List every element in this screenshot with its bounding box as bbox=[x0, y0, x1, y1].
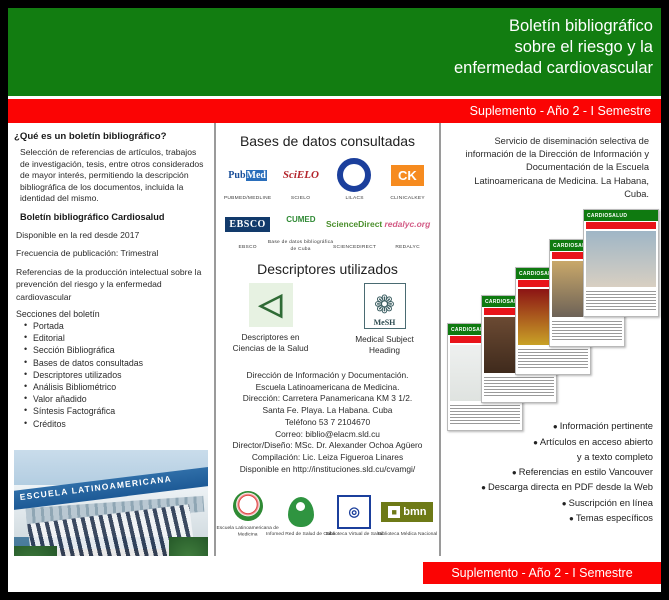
list-item: Síntesis Factográfica bbox=[24, 405, 208, 417]
bullet-icon: ● bbox=[481, 483, 486, 492]
cover-text-lines bbox=[552, 319, 622, 341]
database-item: CK CLINICALKEY bbox=[381, 157, 434, 200]
databases-row-2: EBSCO EBSCO CUMED Base de datos bibliogr… bbox=[221, 201, 434, 249]
bmn-logo-icon: ■bmn bbox=[381, 495, 434, 529]
lilacs-ring-shape bbox=[337, 158, 371, 192]
list-item: Descriptores utilizados bbox=[24, 369, 208, 381]
mesh-wordmark: MeSH bbox=[374, 318, 396, 327]
benefit-label: Referencias en estilo Vancouver bbox=[519, 466, 653, 477]
list-item: Créditos bbox=[24, 418, 208, 430]
partner-logo-item: ◎ Biblioteca Virtual de Salud bbox=[328, 495, 381, 536]
partner-logo-item: Escuela Latinoamericana de Medicina bbox=[221, 489, 274, 535]
bullet-icon: ● bbox=[512, 468, 517, 477]
partner-logos-row: Escuela Latinoamericana de Medicina Info… bbox=[221, 489, 434, 535]
contact-line: Dirección de Información y Documentación… bbox=[221, 370, 434, 382]
page-title: Boletín bibliográfico sobre el riesgo y … bbox=[454, 16, 653, 79]
contact-line: Compilación: Lic. Leiza Figueroa Linares bbox=[221, 452, 434, 464]
service-description: Servicio de diseminación selectiva de in… bbox=[445, 129, 655, 201]
elam-logo-icon bbox=[221, 489, 274, 523]
contact-url[interactable]: Disponible en http://instituciones.sld.c… bbox=[221, 464, 434, 476]
lilacs-icon bbox=[328, 157, 381, 193]
bullet-icon: ● bbox=[553, 422, 558, 431]
cumed-mark: CUMED bbox=[286, 215, 315, 224]
benefit-label: Artículos en acceso abierto bbox=[540, 436, 653, 447]
infomed-logo-icon bbox=[274, 495, 327, 529]
database-item: SciELO SCIELO bbox=[274, 157, 327, 200]
list-item: Bases de datos consultadas bbox=[24, 357, 208, 369]
cover-text-lines bbox=[450, 403, 520, 425]
scielo-mark: SciELO bbox=[283, 169, 319, 181]
list-item: ●Referencias en estilo Vancouver bbox=[445, 465, 653, 481]
mesh-tree-glyph: ❁ bbox=[374, 293, 395, 318]
references-text: Referencias de la producción intelectual… bbox=[16, 266, 208, 303]
descriptor-caption: Descriptores en Ciencias de la Salud bbox=[225, 332, 317, 354]
contact-email[interactable]: Correo: biblio@elacm.sld.cu bbox=[221, 429, 434, 441]
list-item: y a texto completo bbox=[445, 450, 653, 465]
list-item: Portada bbox=[24, 320, 208, 332]
cover-masthead: CARDIOSALUD bbox=[584, 210, 658, 221]
left-column: ¿Qué es un boletín bibliográfico? Selecc… bbox=[8, 123, 214, 592]
benefits-list: ●Información pertinente ●Artículos en ac… bbox=[445, 419, 653, 527]
contact-line: Director/Diseño: MSc. Dr. Alexander Ocho… bbox=[221, 440, 434, 452]
clinicalkey-icon: CK bbox=[381, 157, 434, 193]
database-caption: REDALYC bbox=[371, 244, 443, 251]
cover-text-lines bbox=[484, 375, 554, 397]
descriptor-caption-line-1: Descriptores en bbox=[225, 332, 317, 343]
sections-list: Portada Editorial Sección Bibliográfica … bbox=[24, 320, 208, 430]
list-item: Sección Bibliográfica bbox=[24, 344, 208, 356]
bvs-logo-icon: ◎ bbox=[328, 495, 381, 529]
partner-logo-caption: Biblioteca Médica Nacional bbox=[373, 531, 442, 538]
footer-supplement-label: Suplemento - Año 2 - I Semestre bbox=[423, 562, 661, 584]
ebsco-mark: EBSCO bbox=[225, 217, 269, 232]
clinicalkey-mark: CK bbox=[391, 165, 424, 186]
descriptor-item: ◁ Descriptores en Ciencias de la Salud bbox=[225, 283, 317, 356]
sciencedirect-icon: ScienceDirect bbox=[328, 206, 381, 242]
sciencedirect-mark-b: Direct bbox=[358, 219, 382, 229]
databases-row-1: PubMed PUBMED/MEDLINE SciELO SCIELO LILA… bbox=[221, 157, 434, 200]
benefit-label: y a texto completo bbox=[577, 451, 653, 462]
list-item: Editorial bbox=[24, 332, 208, 344]
contact-line: Santa Fe. Playa. La Habana. Cuba bbox=[221, 405, 434, 417]
page-header: Boletín bibliográfico sobre el riesgo y … bbox=[8, 8, 661, 96]
question-title: ¿Qué es un boletín bibliográfico? bbox=[14, 131, 208, 142]
title-line-2: sobre el riesgo y la bbox=[454, 37, 653, 58]
list-item: Análisis Bibliométrico bbox=[24, 381, 208, 393]
descriptor-item: ❁ MeSH Medical Subject Heading bbox=[339, 283, 431, 356]
contact-block: Dirección de Información y Documentación… bbox=[221, 370, 434, 475]
bulletin-covers-collage: CARDIOSALUD CARDIOSALUD CARDIOSALUD bbox=[445, 205, 655, 415]
benefit-label: Temas específicos bbox=[576, 512, 653, 523]
descriptor-caption-line-2: Ciencias de la Salud bbox=[225, 343, 317, 354]
list-item: ●Suscripción en línea bbox=[445, 496, 653, 512]
supplement-band: Suplemento - Año 2 - I Semestre bbox=[8, 99, 661, 123]
definition-text: Selección de referencias de artículos, t… bbox=[20, 147, 208, 205]
database-item: redalyc.org REDALYC bbox=[381, 206, 434, 249]
benefit-label: Información pertinente bbox=[560, 420, 653, 431]
bulletin-cover: CARDIOSALUD bbox=[583, 209, 659, 317]
list-item: ●Descarga directa en PDF desde la Web bbox=[445, 480, 653, 496]
sciencedirect-mark-a: Science bbox=[326, 219, 358, 229]
bmn-mark: bmn bbox=[403, 506, 426, 518]
ebsco-icon: EBSCO bbox=[221, 206, 274, 242]
footer-supplement-band: Suplemento - Año 2 - I Semestre bbox=[423, 562, 661, 584]
database-caption: CLINICALKEY bbox=[371, 195, 443, 202]
list-item: Valor añadido bbox=[24, 393, 208, 405]
list-item: ●Temas específicos bbox=[445, 511, 653, 527]
database-item: PubMed PUBMED/MEDLINE bbox=[221, 157, 274, 200]
descriptors-title: Descriptores utilizados bbox=[221, 261, 434, 277]
middle-column: Bases de datos consultadas PubMed PUBMED… bbox=[214, 123, 441, 592]
descriptor-caption: Medical Subject Heading bbox=[339, 334, 431, 356]
supplement-band-label: Suplemento - Año 2 - I Semestre bbox=[470, 102, 651, 120]
cover-text-lines bbox=[518, 347, 588, 369]
decs-logo-icon: ◁ bbox=[249, 283, 293, 327]
descriptor-caption-line-1: Medical Subject bbox=[339, 334, 431, 345]
pubmed-mark-b: Med bbox=[246, 170, 267, 181]
title-line-1: Boletín bibliográfico bbox=[454, 16, 653, 37]
contact-line: Dirección: Carretera Panamericana KM 3 1… bbox=[221, 393, 434, 405]
database-item: LILACS bbox=[328, 157, 381, 200]
title-line-3: enfermedad cardiovascular bbox=[454, 58, 653, 79]
frequency-text: Frecuencia de publicación: Trimestral bbox=[16, 247, 208, 259]
descriptor-caption-line-2: Heading bbox=[339, 345, 431, 356]
right-column: Servicio de diseminación selectiva de in… bbox=[441, 123, 661, 592]
pubmed-mark-a: Pub bbox=[228, 170, 245, 181]
availability-text: Disponible en la red desde 2017 bbox=[16, 229, 208, 241]
mesh-logo-icon: ❁ MeSH bbox=[364, 283, 406, 329]
benefit-label: Suscripción en línea bbox=[569, 497, 653, 508]
descriptors-row: ◁ Descriptores en Ciencias de la Salud ❁… bbox=[221, 283, 434, 356]
cover-text-lines bbox=[586, 289, 656, 311]
contact-line: Teléfono 53 7 2104670 bbox=[221, 417, 434, 429]
bulletin-title: Boletín bibliográfico Cardiosalud bbox=[20, 212, 208, 222]
footer-area: Suplemento - Año 2 - I Semestre bbox=[8, 556, 661, 592]
content-columns: ¿Qué es un boletín bibliográfico? Selecc… bbox=[8, 123, 661, 592]
cumed-icon: CUMED bbox=[274, 201, 327, 237]
cover-red-bar bbox=[586, 222, 656, 229]
benefit-label: Descarga directa en PDF desde la Web bbox=[488, 481, 653, 492]
pubmed-icon: PubMed bbox=[221, 157, 274, 193]
cover-image bbox=[586, 231, 656, 287]
decs-glyph: ◁ bbox=[259, 290, 282, 320]
contact-line: Escuela Latinoamericana de Medicina. bbox=[221, 382, 434, 394]
redalyc-mark: redalyc.org bbox=[384, 219, 430, 229]
partner-logo-item: ■bmn Biblioteca Médica Nacional bbox=[381, 495, 434, 536]
database-item: CUMED Base de datos bibliográfica de Cub… bbox=[274, 201, 327, 249]
redalyc-icon: redalyc.org bbox=[381, 206, 434, 242]
bullet-icon: ● bbox=[569, 514, 574, 523]
bullet-icon: ● bbox=[533, 438, 538, 447]
bulletin-page: Boletín bibliográfico sobre el riesgo y … bbox=[8, 8, 661, 592]
sections-title: Secciones del boletín bbox=[16, 309, 208, 319]
scielo-icon: SciELO bbox=[274, 157, 327, 193]
bullet-icon: ● bbox=[562, 499, 567, 508]
databases-title: Bases de datos consultadas bbox=[221, 133, 434, 149]
list-item: ●Artículos en acceso abierto bbox=[445, 435, 653, 451]
